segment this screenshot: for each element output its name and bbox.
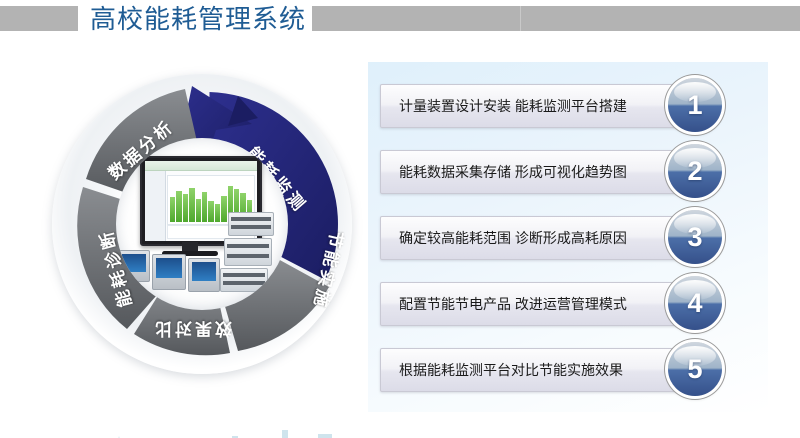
- step-text-2: 能耗数据采集存储 形成可视化趋势图: [399, 151, 689, 193]
- step-row-1[interactable]: 计量装置设计安装 能耗监测平台搭建: [380, 84, 700, 128]
- step-text-1: 计量装置设计安装 能耗监测平台搭建: [399, 85, 689, 127]
- step-number-1: 1: [668, 78, 722, 132]
- step-row-2[interactable]: 能耗数据采集存储 形成可视化趋势图: [380, 150, 700, 194]
- wheel-center-image: [116, 138, 288, 310]
- step-badge-3[interactable]: 3: [668, 210, 722, 264]
- device-display-1: [118, 250, 150, 282]
- steps-panel: 计量装置设计安装 能耗监测平台搭建 1 能耗数据采集存储 形成可视化趋势图 2 …: [368, 62, 768, 412]
- city-skyline-decoration: [72, 418, 402, 438]
- step-number-3: 3: [668, 210, 722, 264]
- step-text-3: 确定较高能耗范围 诊断形成高耗原因: [399, 217, 689, 259]
- header-bar-seam: [520, 6, 521, 31]
- page-title: 高校能耗管理系统: [90, 1, 306, 37]
- step-badge-2[interactable]: 2: [668, 144, 722, 198]
- step-badge-1[interactable]: 1: [668, 78, 722, 132]
- wheel-label-effect-comparison: 效果对比: [152, 318, 232, 343]
- device-display-2: [152, 254, 186, 290]
- device-display-3: [188, 258, 220, 292]
- energy-meter-3: [220, 268, 268, 292]
- step-row-4[interactable]: 配置节能节电产品 改进运营管理模式: [380, 282, 700, 326]
- energy-meter-1: [228, 212, 274, 236]
- step-number-4: 4: [668, 276, 722, 330]
- step-row-5[interactable]: 根据能耗监测平台对比节能实施效果: [380, 348, 700, 392]
- energy-meter-2: [224, 238, 272, 266]
- slide-canvas: 高校能耗管理系统: [0, 0, 800, 438]
- process-wheel: 能耗监测 节能实施 效果对比 能耗诊断 数据分析: [42, 66, 362, 396]
- step-number-5: 5: [668, 342, 722, 396]
- step-text-5: 根据能耗监测平台对比节能实施效果: [399, 349, 689, 391]
- step-badge-5[interactable]: 5: [668, 342, 722, 396]
- step-row-3[interactable]: 确定较高能耗范围 诊断形成高耗原因: [380, 216, 700, 260]
- header-bar-right: [312, 6, 800, 31]
- step-badge-4[interactable]: 4: [668, 276, 722, 330]
- step-number-2: 2: [668, 144, 722, 198]
- header-bar-left: [0, 6, 78, 31]
- step-text-4: 配置节能节电产品 改进运营管理模式: [399, 283, 689, 325]
